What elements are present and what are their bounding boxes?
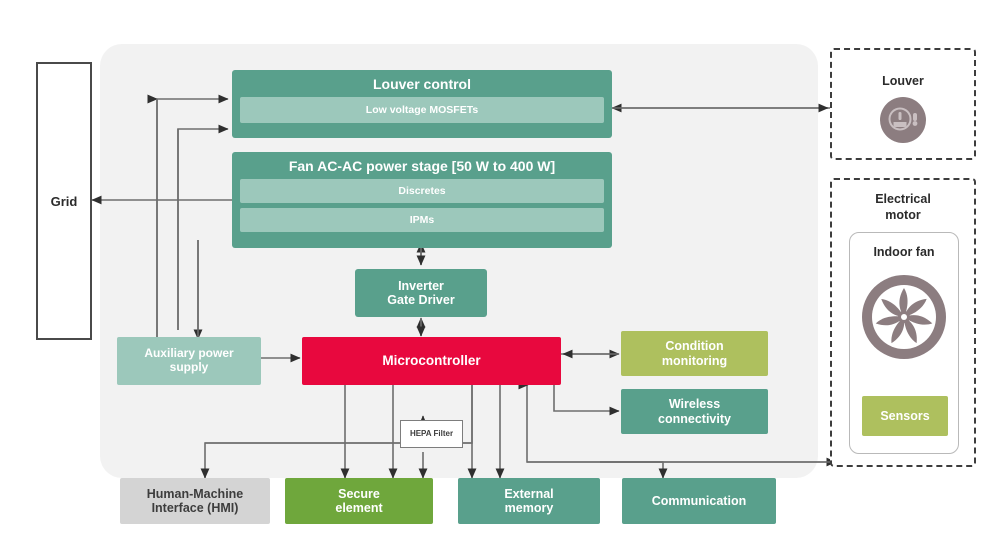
louver-motor-icon: [879, 96, 927, 149]
fan-power-stage-block: Fan AC-AC power stage [50 W to 400 W] Di…: [232, 152, 612, 248]
electrical-motor-panel: Electrical motor Indoor fan: [830, 178, 976, 467]
wireless-connectivity-box: Wireless connectivity: [621, 389, 768, 434]
indoor-fan-title: Indoor fan: [850, 245, 958, 259]
microcontroller-label: Microcontroller: [382, 353, 480, 369]
louver-panel: Louver: [830, 48, 976, 160]
secure-element-line1: Secure: [338, 487, 380, 501]
indoor-fan-card: Indoor fan: [849, 232, 959, 454]
sensors-label: Sensors: [880, 409, 929, 423]
louver-control-sub-mosfets: Low voltage MOSFETs: [240, 97, 604, 123]
communication-box: Communication: [622, 478, 776, 524]
electrical-motor-title-line1: Electrical: [832, 192, 974, 206]
sensors-box: Sensors: [862, 396, 948, 436]
fan-power-stage-sub-ipms: IPMs: [240, 208, 604, 232]
auxiliary-power-supply-line1: Auxiliary power: [144, 347, 233, 361]
communication-label: Communication: [652, 494, 746, 508]
external-memory-box: External memory: [458, 478, 600, 524]
grid-box: Grid: [36, 62, 92, 340]
wireless-connectivity-line1: Wireless: [669, 397, 720, 411]
inverter-gate-driver-line1: Inverter: [398, 279, 444, 293]
condition-monitoring-line2: monitoring: [662, 354, 727, 368]
external-memory-line1: External: [504, 487, 553, 501]
hepa-filter-label: HEPA Filter: [410, 429, 453, 438]
louver-control-block: Louver control Low voltage MOSFETs: [232, 70, 612, 138]
inverter-gate-driver-box: Inverter Gate Driver: [355, 269, 487, 317]
fan-power-stage-sub-discretes: Discretes: [240, 179, 604, 203]
human-machine-interface-box: Human-Machine Interface (HMI): [120, 478, 270, 524]
fan-impeller-icon: [860, 273, 948, 366]
diagram-canvas: Grid Louver control Low voltage MOSFETs …: [0, 0, 1007, 543]
grid-label: Grid: [51, 194, 78, 209]
microcontroller-box: Microcontroller: [302, 337, 561, 385]
louver-control-title: Louver control: [240, 76, 604, 92]
condition-monitoring-box: Condition monitoring: [621, 331, 768, 376]
auxiliary-power-supply-box: Auxiliary power supply: [117, 337, 261, 385]
secure-element-box: Secure element: [285, 478, 433, 524]
auxiliary-power-supply-line2: supply: [170, 361, 209, 375]
condition-monitoring-line1: Condition: [665, 339, 723, 353]
external-memory-line2: memory: [505, 501, 554, 515]
electrical-motor-title-line2: motor: [832, 208, 974, 222]
louver-panel-title: Louver: [832, 74, 974, 88]
fan-power-stage-title: Fan AC-AC power stage [50 W to 400 W]: [240, 158, 604, 174]
hepa-filter-box: HEPA Filter: [400, 420, 463, 448]
hmi-line1: Human-Machine: [147, 487, 244, 501]
secure-element-line2: element: [335, 501, 382, 515]
inverter-gate-driver-line2: Gate Driver: [387, 293, 454, 307]
hmi-line2: Interface (HMI): [152, 501, 239, 515]
wireless-connectivity-line2: connectivity: [658, 412, 731, 426]
